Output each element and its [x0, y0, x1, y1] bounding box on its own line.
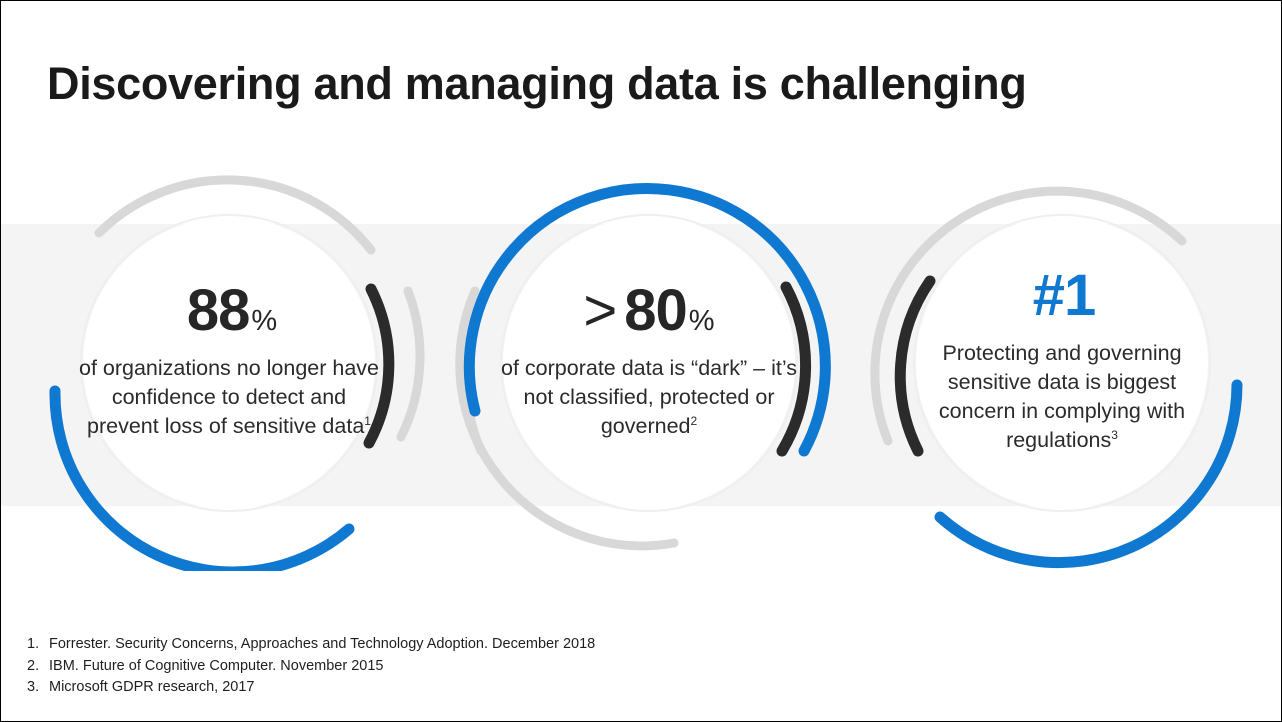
- footnote-index: 1.: [27, 634, 49, 656]
- footnote-item: 3. Microsoft GDPR research, 2017: [27, 677, 595, 699]
- slide-canvas: Discovering and managing data is challen…: [0, 0, 1282, 722]
- circle-fill: [916, 217, 1208, 509]
- ring-graphic-2: [439, 151, 859, 571]
- outer-gray-arc-right: [401, 291, 420, 437]
- ring-graphic-1: [19, 151, 439, 571]
- footnote-text: Microsoft GDPR research, 2017: [49, 677, 255, 699]
- ring-graphic-3: [852, 151, 1272, 571]
- stat-circles-group: 88% of organizations no longer have conf…: [1, 151, 1282, 581]
- footnote-item: 1. Forrester. Security Concerns, Approac…: [27, 634, 595, 656]
- footnote-index: 2.: [27, 656, 49, 678]
- footnotes-list: 1. Forrester. Security Concerns, Approac…: [27, 634, 595, 699]
- stat-circle-1: 88% of organizations no longer have conf…: [19, 151, 439, 571]
- circle-fill: [83, 217, 375, 509]
- footnote-index: 3.: [27, 677, 49, 699]
- footnote-item: 2. IBM. Future of Cognitive Computer. No…: [27, 656, 595, 678]
- stat-circle-3: #1 Protecting and governing sensitive da…: [852, 151, 1272, 571]
- footnote-text: IBM. Future of Cognitive Computer. Novem…: [49, 656, 383, 678]
- footnote-text: Forrester. Security Concerns, Approaches…: [49, 634, 595, 656]
- stat-circle-2: >80% of corporate data is “dark” – it’s …: [439, 151, 859, 571]
- circle-fill: [503, 217, 795, 509]
- page-title: Discovering and managing data is challen…: [47, 58, 1027, 110]
